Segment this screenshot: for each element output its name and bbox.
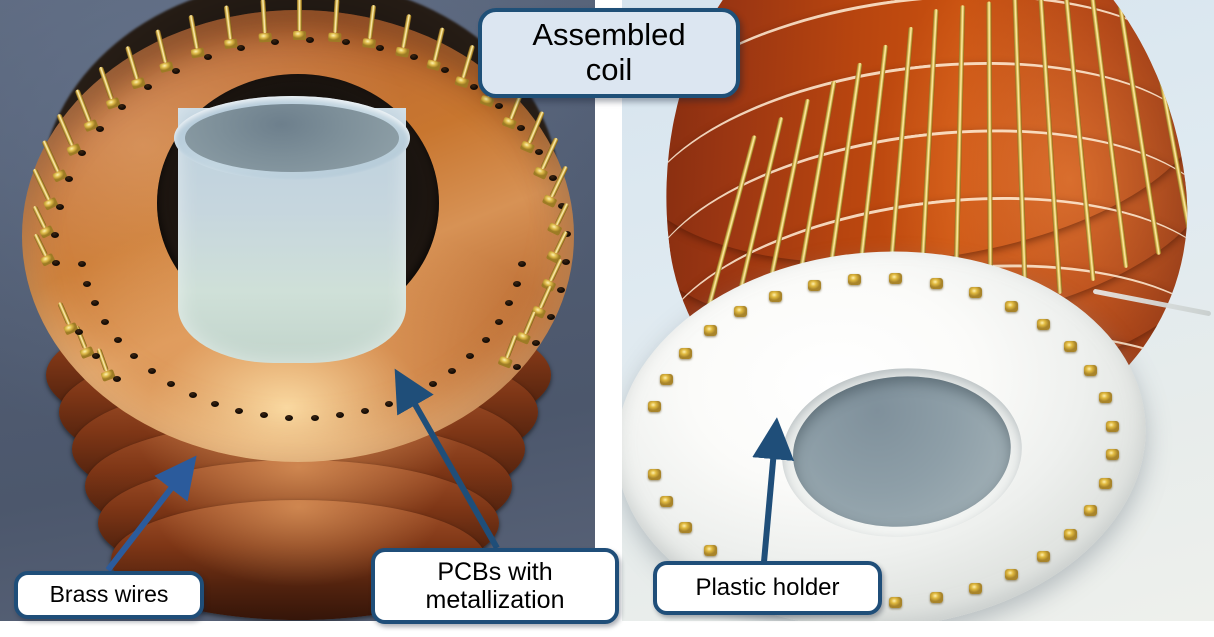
pcb-via <box>518 261 526 267</box>
pcb-via <box>189 392 197 398</box>
pcb-via <box>547 314 555 320</box>
pcb-via <box>285 415 293 421</box>
pcb-via <box>466 353 474 359</box>
pcb-via <box>470 84 478 90</box>
holder-screw <box>734 306 747 317</box>
pcb-via <box>237 45 245 51</box>
label-title-line1: Assembled <box>532 17 685 52</box>
holder-screw <box>889 273 902 284</box>
pcb-via <box>361 408 369 414</box>
label-brass-wires-text: Brass wires <box>50 582 169 608</box>
label-pcbs-line2: metallization <box>426 586 565 614</box>
pcb-via <box>513 281 521 287</box>
holder-screw <box>1064 341 1077 352</box>
holder-screw <box>1099 392 1112 403</box>
pcb-via <box>130 353 138 359</box>
holder-screw <box>1037 319 1050 330</box>
holder-screw <box>660 374 673 385</box>
label-assembled-coil: Assembled coil <box>478 8 740 98</box>
holder-screw <box>930 592 943 603</box>
holder-screw <box>1037 551 1050 562</box>
pcb-via <box>532 340 540 346</box>
brass-pin <box>297 0 306 40</box>
holder-screw <box>679 522 692 533</box>
pcb-via <box>376 45 384 51</box>
pcb-via <box>235 408 243 414</box>
pcb-via <box>167 381 175 387</box>
label-pcbs-with-metallization: PCBs with metallization <box>371 548 619 624</box>
pcb-via <box>557 287 565 293</box>
pcb-via <box>52 260 60 266</box>
holder-screw <box>969 287 982 298</box>
pcb-via <box>448 368 456 374</box>
holder-screw <box>1084 505 1097 516</box>
holder-screw <box>848 274 861 285</box>
label-plastic-holder: Plastic holder <box>653 561 882 615</box>
holder-screw <box>769 291 782 302</box>
holder-screw <box>704 545 717 556</box>
label-pcbs-line1: PCBs with <box>437 558 552 586</box>
holder-screw <box>704 325 717 336</box>
holder-screw <box>969 583 982 594</box>
holder-screw <box>1099 478 1112 489</box>
pcb-via <box>78 261 86 267</box>
label-plastic-holder-text: Plastic holder <box>695 575 839 602</box>
pcb-via <box>96 126 104 132</box>
holder-screw <box>660 496 673 507</box>
holder-screw <box>930 278 943 289</box>
pcb-via <box>385 401 393 407</box>
pcb-via <box>172 68 180 74</box>
label-title-line2: coil <box>586 52 633 87</box>
holder-screw <box>1106 421 1119 432</box>
holder-screw <box>808 280 821 291</box>
holder-screw <box>1106 449 1119 460</box>
pcb-via <box>342 39 350 45</box>
pcb-via <box>65 176 73 182</box>
holder-screw <box>1084 365 1097 376</box>
plastic-cylinder-bore <box>185 104 399 172</box>
pcb-via <box>429 381 437 387</box>
pcb-via <box>56 204 64 210</box>
figure-canvas: Assembled coil Brass wires PCBs with met… <box>0 0 1214 637</box>
pcb-via <box>482 337 490 343</box>
holder-screw <box>1005 569 1018 580</box>
pcb-via <box>513 364 521 370</box>
pcb-via <box>410 54 418 60</box>
pcb-via <box>495 319 503 325</box>
pcb-via <box>118 104 126 110</box>
pcb-via <box>148 368 156 374</box>
holder-screw <box>1064 529 1077 540</box>
pcb-via <box>75 329 83 335</box>
pcb-via <box>144 84 152 90</box>
label-pcbs-text: PCBs with metallization <box>426 558 565 614</box>
holder-screw <box>889 597 902 608</box>
holder-screw <box>648 469 661 480</box>
label-brass-wires: Brass wires <box>14 571 204 619</box>
holder-screw <box>1005 301 1018 312</box>
holder-screw <box>679 348 692 359</box>
pcb-via <box>311 415 319 421</box>
label-assembled-coil-text: Assembled coil <box>532 18 685 87</box>
pcb-via <box>51 232 59 238</box>
holder-screw <box>648 401 661 412</box>
